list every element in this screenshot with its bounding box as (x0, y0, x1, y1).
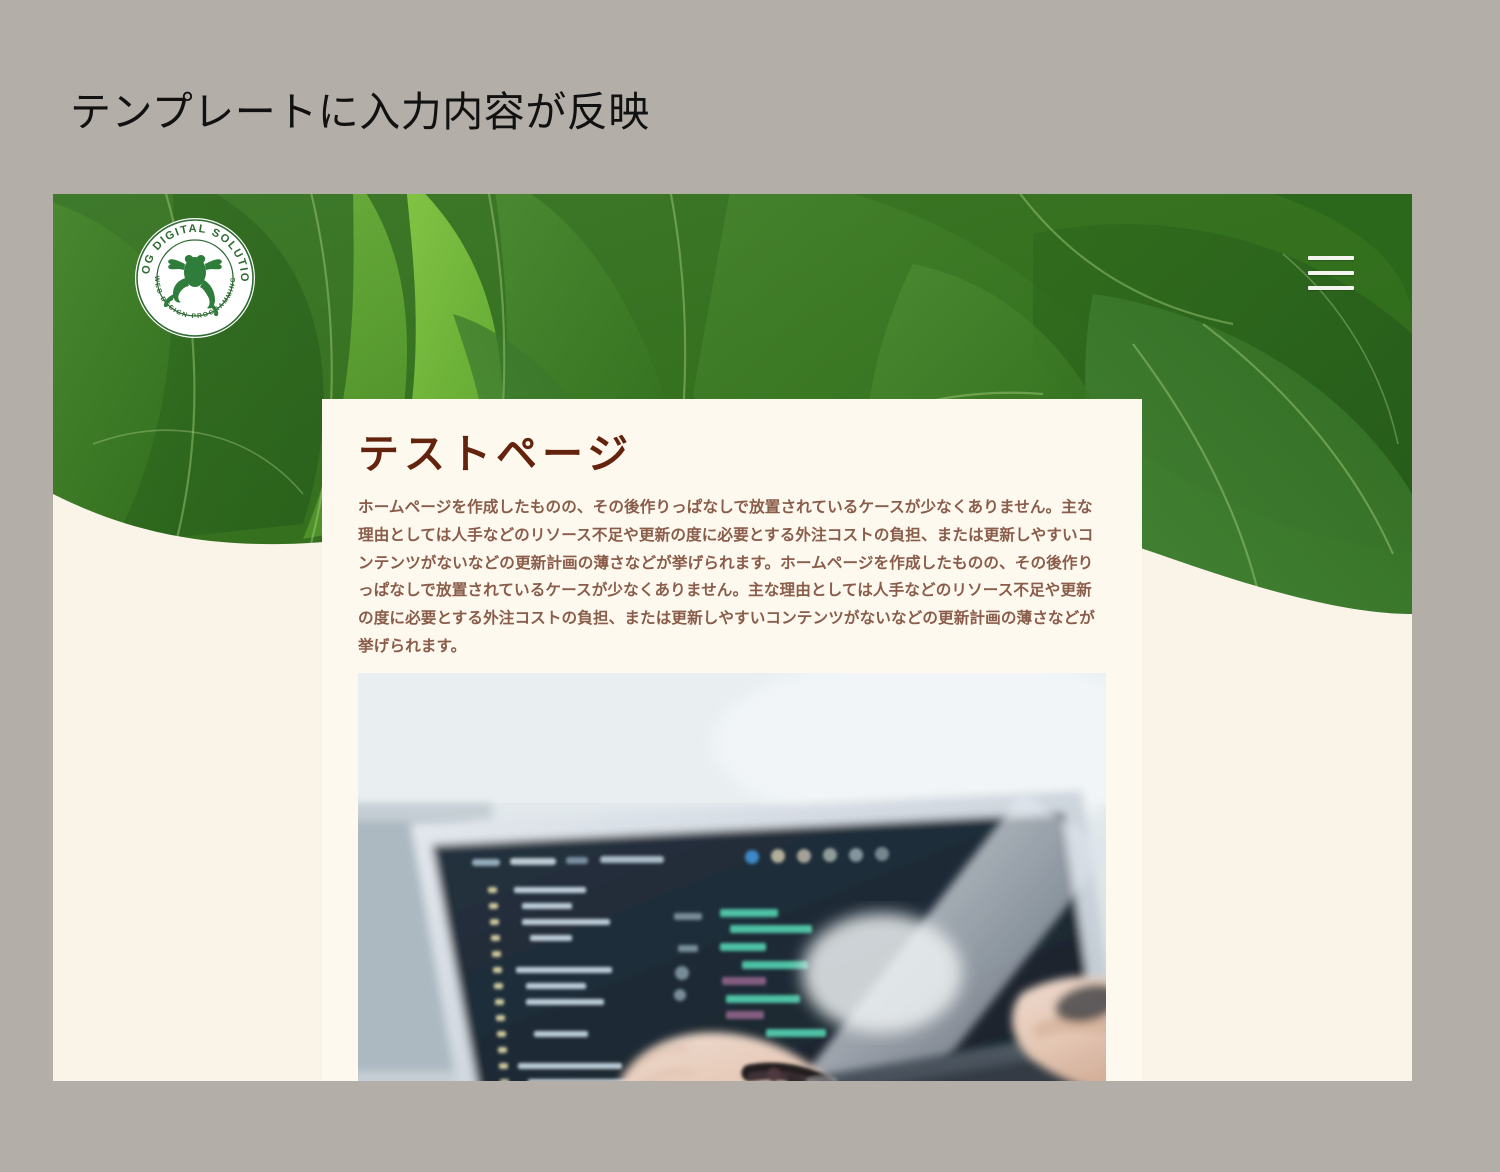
page-title: テストページ (358, 431, 1106, 478)
hamburger-bar-top (1308, 256, 1354, 260)
hamburger-bar-middle (1308, 271, 1354, 275)
content-card: テストページ ホームページを作成したものの、その後作りっぱなしで放置されているケ… (322, 399, 1142, 1081)
site-preview-window: テストページ ホームページを作成したものの、その後作りっぱなしで放置されているケ… (53, 194, 1412, 1081)
slide-caption: テンプレートに入力内容が反映 (70, 88, 650, 137)
hamburger-bar-bottom (1308, 286, 1354, 290)
frog-digital-solution-logo[interactable]: FROG DIGITAL SOLUTION WEB DESIGN·PROGRAM… (133, 216, 257, 340)
page-paragraph: ホームページを作成したものの、その後作りっぱなしで放置されているケースが少なくあ… (358, 494, 1106, 661)
hamburger-menu-button[interactable] (1308, 256, 1354, 290)
featured-image (358, 673, 1106, 1081)
